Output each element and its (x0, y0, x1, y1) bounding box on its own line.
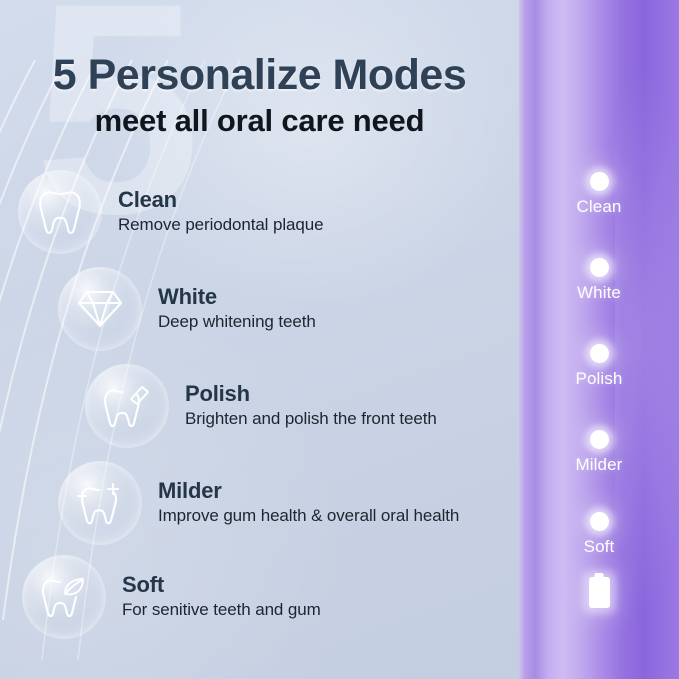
led-dot-icon (590, 430, 609, 449)
led-dot-icon (590, 512, 609, 531)
bubble-white (58, 267, 142, 351)
bubble-milder (58, 461, 142, 545)
mode-indicator-clean[interactable]: Clean (519, 172, 679, 215)
mode-name: Soft (122, 572, 321, 598)
mode-indicator-polish[interactable]: Polish (519, 344, 679, 387)
mode-indicator-milder[interactable]: Milder (519, 430, 679, 473)
infographic-canvas: 5 5 Personalize Modes meet all oral care… (0, 0, 679, 679)
mode-item-milder: Milder Improve gum health & overall oral… (58, 461, 459, 545)
mode-desc: Deep whitening teeth (158, 311, 316, 333)
bubble-polish (85, 364, 169, 448)
diamond-icon (77, 288, 123, 330)
led-label: Soft (519, 538, 679, 555)
mode-name: Clean (118, 187, 323, 213)
mode-text-polish: Polish Brighten and polish the front tee… (185, 381, 437, 430)
led-label: Polish (519, 370, 679, 387)
bubble-soft (22, 555, 106, 639)
led-dot-icon (590, 344, 609, 363)
tooth-brush-icon (101, 381, 153, 431)
mode-text-white: White Deep whitening teeth (158, 284, 316, 333)
mode-name: Polish (185, 381, 437, 407)
mode-item-polish: Polish Brighten and polish the front tee… (85, 364, 437, 448)
tooth-icon (37, 188, 83, 236)
mode-text-soft: Soft For senitive teeth and gum (122, 572, 321, 621)
mode-desc: Remove periodontal plaque (118, 214, 323, 236)
mode-text-clean: Clean Remove periodontal plaque (118, 187, 323, 236)
mode-item-white: White Deep whitening teeth (58, 267, 316, 351)
left-content-panel: 5 5 Personalize Modes meet all oral care… (0, 0, 519, 679)
mode-item-clean: Clean Remove periodontal plaque (18, 170, 323, 254)
page-subtitle: meet all oral care need (0, 104, 519, 138)
led-label: White (519, 284, 679, 301)
mode-indicator-soft[interactable]: Soft (519, 512, 679, 555)
battery-indicator (519, 577, 679, 608)
toothbrush-handle: Clean White Polish Milder Soft (519, 0, 679, 679)
mode-item-soft: Soft For senitive teeth and gum (22, 555, 321, 639)
mode-desc: For senitive teeth and gum (122, 599, 321, 621)
battery-icon (589, 577, 610, 608)
bubble-clean (18, 170, 102, 254)
header-block: 5 Personalize Modes meet all oral care n… (0, 52, 519, 139)
mode-desc: Brighten and polish the front teeth (185, 408, 437, 430)
led-dot-icon (590, 172, 609, 191)
tooth-sparkle-icon (73, 478, 127, 528)
mode-desc: Improve gum health & overall oral health (158, 505, 459, 527)
led-label: Milder (519, 456, 679, 473)
page-title: 5 Personalize Modes (0, 52, 519, 98)
mode-indicator-white[interactable]: White (519, 258, 679, 301)
led-dot-icon (590, 258, 609, 277)
mode-name: Milder (158, 478, 459, 504)
mode-name: White (158, 284, 316, 310)
mode-text-milder: Milder Improve gum health & overall oral… (158, 478, 459, 527)
tooth-leaf-icon (38, 572, 90, 622)
led-label: Clean (519, 198, 679, 215)
